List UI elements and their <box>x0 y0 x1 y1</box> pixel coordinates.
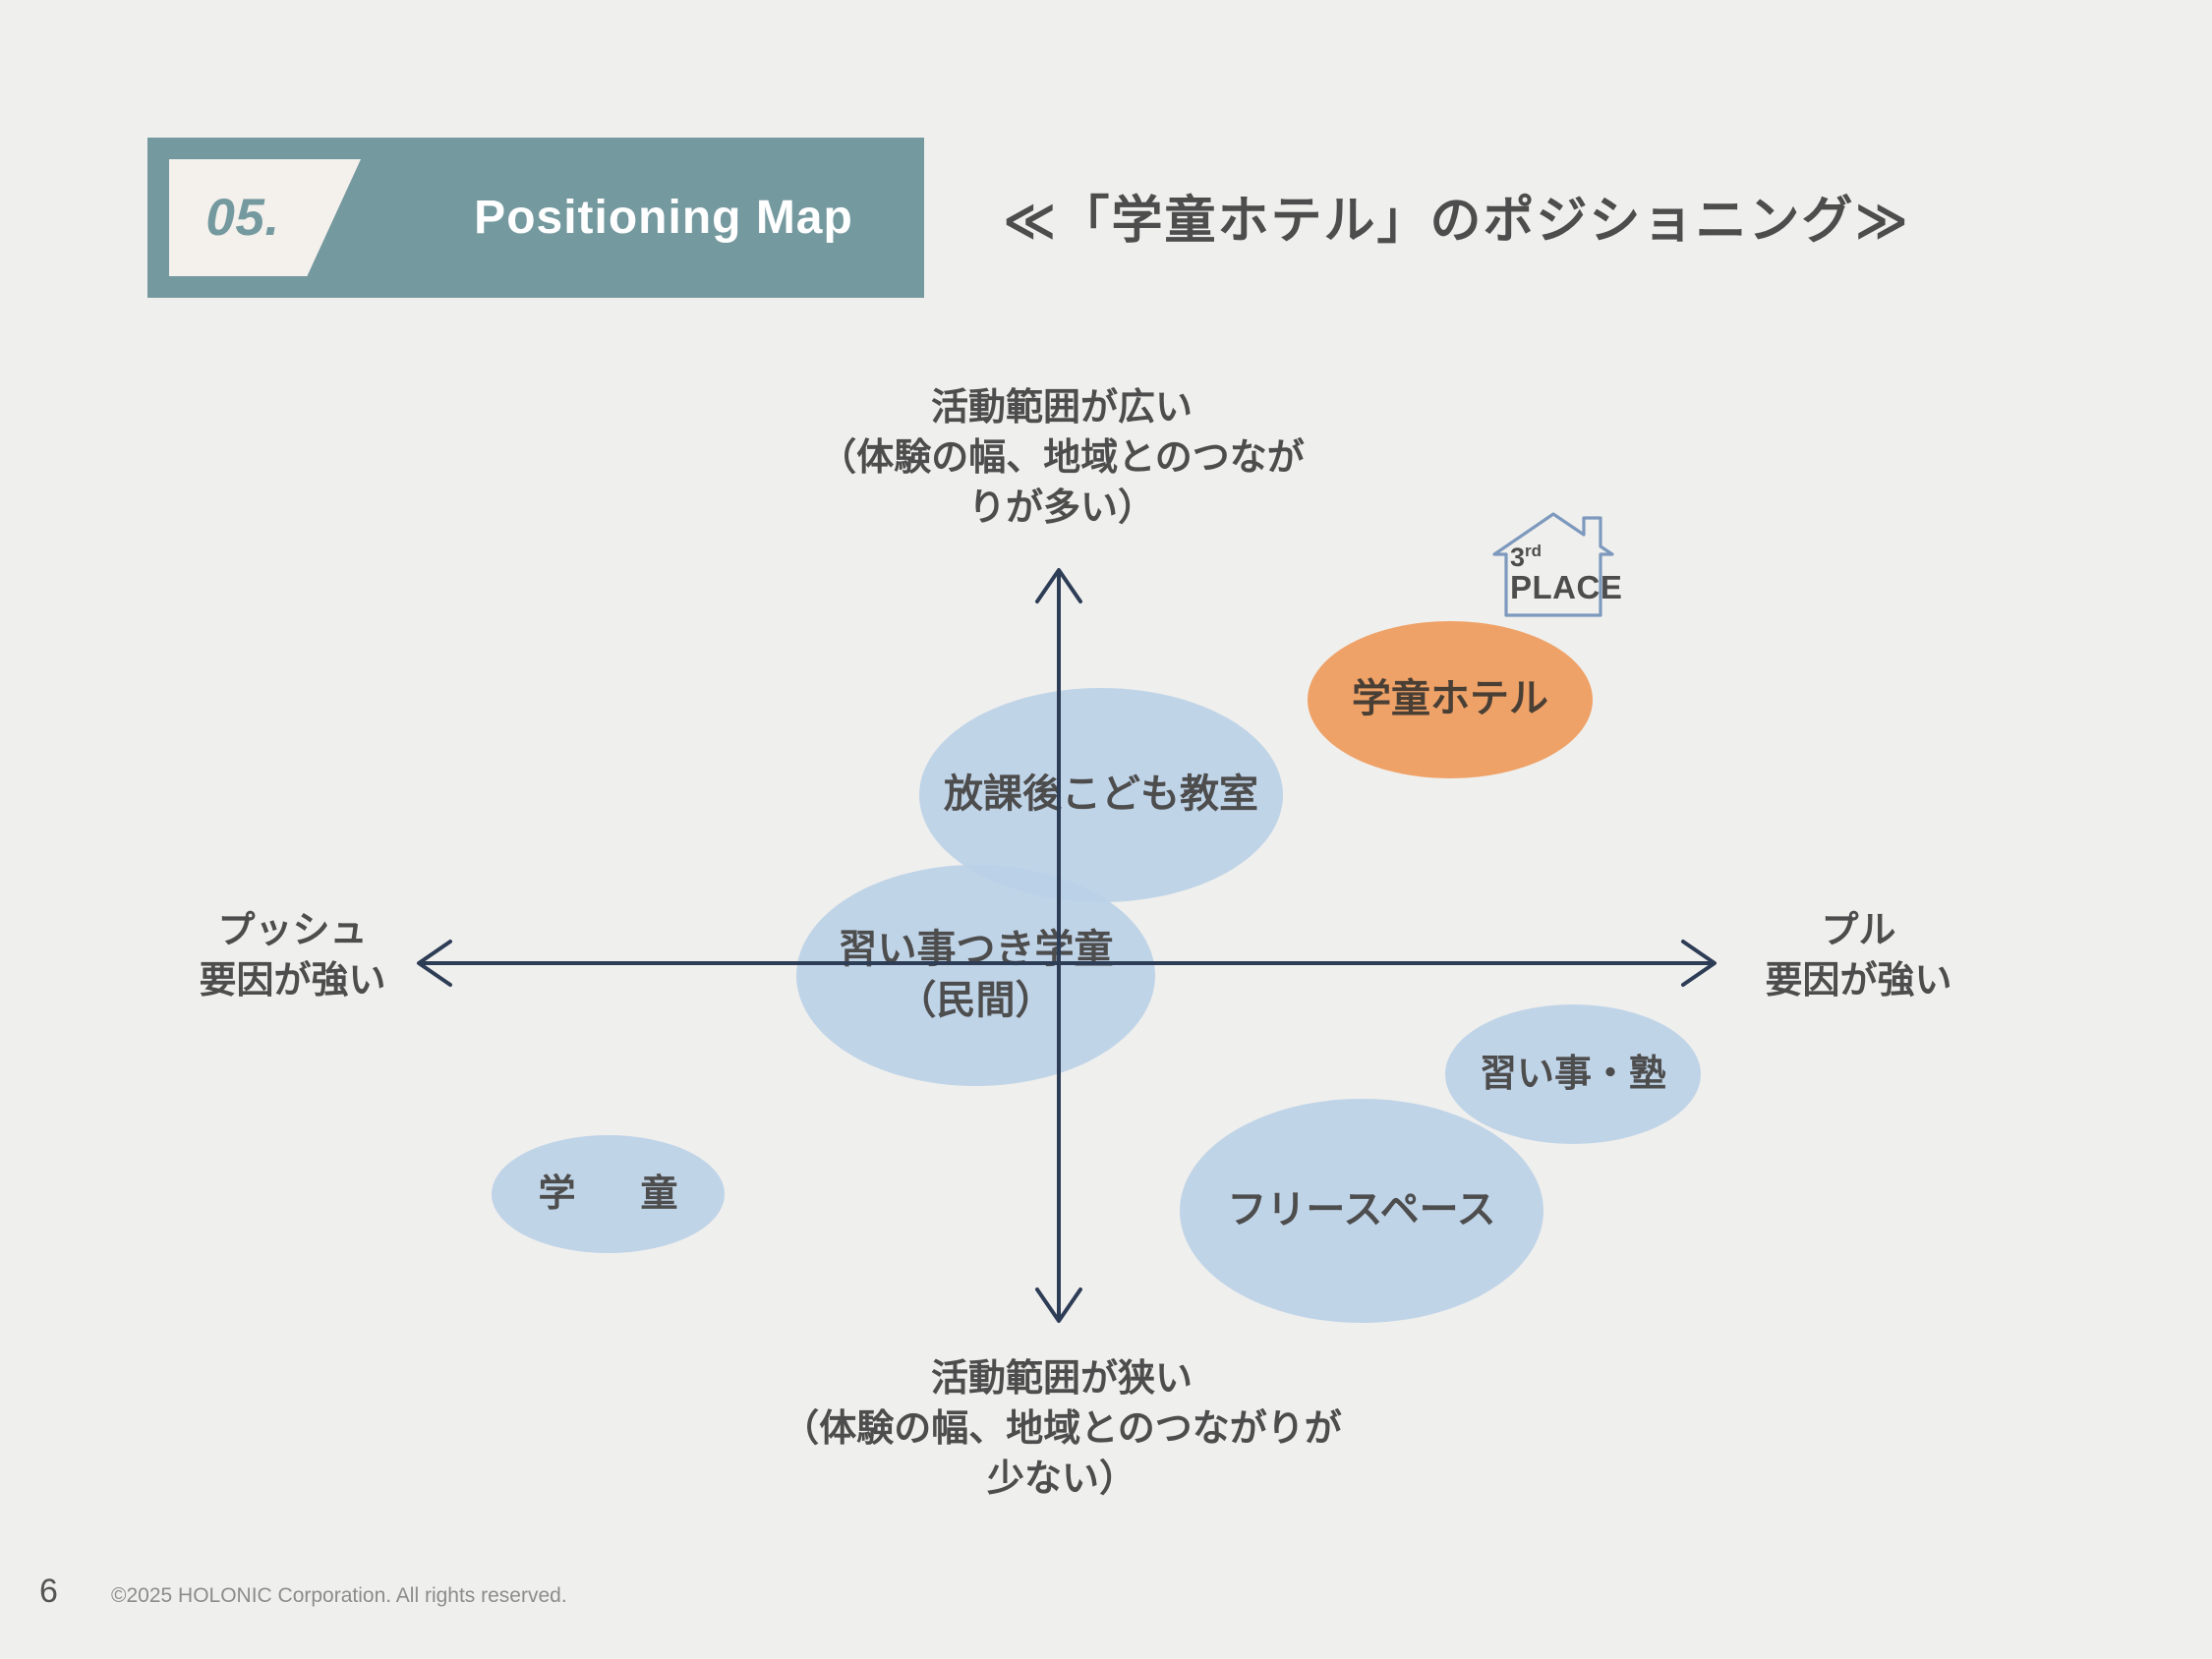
bubble-label: 学童ホテル <box>1352 674 1548 724</box>
positioning-map: 放課後こども教室 習い事つき学童 （民間） 学 童 フリースペース 習い事・塾 … <box>0 0 2212 1659</box>
axis-label-top: 活動範囲が広い （体験の幅、地域とのつなが りが多い） <box>777 383 1347 534</box>
axis-label-bottom-line3: 少ない） <box>747 1455 1376 1505</box>
axis-label-right: プル 要因が強い <box>1738 906 1979 1006</box>
bubble-label: 習い事・塾 <box>1480 1051 1666 1099</box>
axis-label-top-line3: りが多い） <box>777 484 1347 534</box>
bubble-naraigoto-tsuki-gakudou[interactable]: 習い事つき学童 （民間） <box>796 865 1155 1086</box>
page-number: 6 <box>39 1573 58 1611</box>
bubble-label-line2: （民間） <box>898 979 1055 1022</box>
bubble-gakudou-hotel[interactable]: 学童ホテル <box>1308 621 1593 778</box>
bubble-naraigoto-juku[interactable]: 習い事・塾 <box>1445 1004 1701 1144</box>
bubble-free-space[interactable]: フリースペース <box>1180 1099 1543 1323</box>
axis-label-left-line1: プッシュ <box>172 906 413 956</box>
third-place-ordinal: rd <box>1525 542 1542 560</box>
bubble-label: 習い事つき学童 （民間） <box>839 925 1114 1025</box>
axis-label-top-line2: （体験の幅、地域とのつなが <box>777 433 1347 484</box>
third-place-line2: PLACE <box>1510 571 1618 605</box>
copyright-notice: ©2025 HOLONIC Corporation. All rights re… <box>111 1584 567 1608</box>
axis-label-left-line2: 要因が強い <box>172 956 413 1006</box>
axis-label-bottom-line1: 活動範囲が狭い <box>747 1354 1376 1404</box>
bubble-label-line1: 習い事つき学童 <box>839 928 1114 971</box>
axis-label-top-line1: 活動範囲が広い <box>777 383 1347 433</box>
bubble-label: フリースペース <box>1227 1185 1495 1235</box>
axis-label-bottom: 活動範囲が狭い （体験の幅、地域とのつながりが 少ない） <box>747 1354 1376 1505</box>
third-place-line1: 3rd <box>1510 543 1618 571</box>
third-place-label: 3rd PLACE <box>1510 543 1618 605</box>
axis-label-left: プッシュ 要因が強い <box>172 906 413 1006</box>
axis-label-right-line2: 要因が強い <box>1738 956 1979 1006</box>
bubble-gakudou[interactable]: 学 童 <box>492 1135 725 1253</box>
third-place-number: 3 <box>1510 543 1525 572</box>
axis-label-right-line1: プル <box>1738 906 1979 956</box>
bubble-label: 学 童 <box>524 1171 691 1219</box>
bubble-label: 放課後こども教室 <box>944 770 1258 820</box>
axis-label-bottom-line2: （体験の幅、地域とのつながりが <box>747 1404 1376 1455</box>
